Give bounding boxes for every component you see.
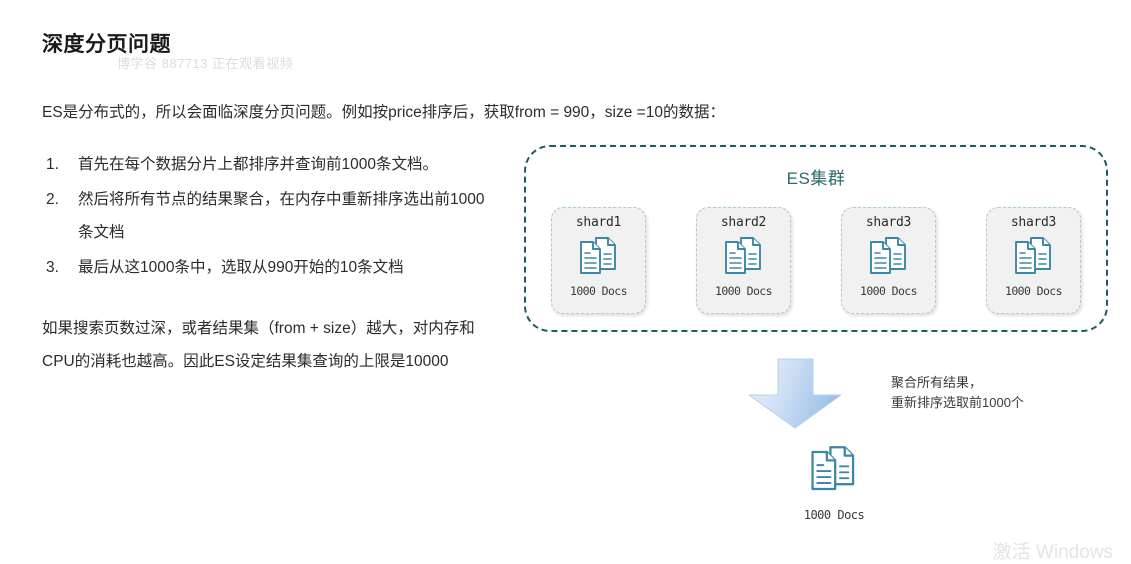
result-doc-count: 1000 Docs — [804, 508, 865, 522]
shard-doc-count: 1000 Docs — [860, 284, 917, 298]
shard-name: shard3 — [866, 215, 911, 230]
documents-icon — [803, 441, 865, 499]
list-item-text: 首先在每个数据分片上都排序并查询前1000条文档。 — [78, 156, 438, 173]
list-item: 1. 首先在每个数据分片上都排序并查询前1000条文档。 — [42, 148, 492, 181]
es-cluster-diagram: ES集群 shard1 — [518, 140, 1118, 550]
shard-doc-count: 1000 Docs — [1005, 284, 1062, 298]
arrow-annotation: 聚合所有结果， 重新排序选取前1000个 — [891, 373, 1024, 413]
shard-card: shard3 — [841, 207, 936, 314]
documents-icon — [863, 233, 915, 282]
list-item-text: 最后从这1000条中，选取从990开始的10条文档 — [78, 259, 404, 276]
list-item: 2. 然后将所有节点的结果聚合，在内存中重新排序选出前1000条文档 — [42, 183, 492, 249]
list-item-text: 然后将所有节点的结果聚合，在内存中重新排序选出前1000条文档 — [78, 191, 484, 241]
shard-card: shard2 — [696, 207, 791, 314]
shard-card: shard1 — [551, 207, 646, 314]
steps-list: 1. 首先在每个数据分片上都排序并查询前1000条文档。 2. 然后将所有节点的… — [42, 148, 492, 284]
cluster-boundary: ES集群 shard1 — [524, 145, 1108, 332]
shard-name: shard2 — [721, 215, 766, 230]
shard-name: shard3 — [1011, 215, 1056, 230]
cluster-title: ES集群 — [526, 164, 1106, 189]
result-node: 1000 Docs — [774, 438, 894, 522]
list-item-number: 3. — [46, 251, 59, 284]
documents-icon — [573, 233, 625, 282]
closing-paragraph: 如果搜索页数过深，或者结果集（from + size）越大，对内存和CPU的消耗… — [42, 312, 482, 378]
intro-paragraph: ES是分布式的，所以会面临深度分页问题。例如按price排序后，获取from =… — [42, 98, 492, 128]
content-column: ES是分布式的，所以会面临深度分页问题。例如按price排序后，获取from =… — [42, 98, 492, 378]
down-arrow-icon — [743, 358, 848, 435]
shard-doc-count: 1000 Docs — [715, 284, 772, 298]
documents-icon — [1008, 233, 1060, 282]
shard-name: shard1 — [576, 215, 621, 230]
shard-row: shard1 — [526, 207, 1106, 314]
shard-doc-count: 1000 Docs — [570, 284, 627, 298]
list-item-number: 2. — [46, 183, 59, 216]
viewer-watermark: 博学谷 887713 正在观看视频 — [117, 53, 293, 72]
list-item-number: 1. — [46, 148, 59, 181]
documents-icon — [718, 233, 770, 282]
shard-card: shard3 — [986, 207, 1081, 314]
os-activation-watermark: 激活 Windows — [993, 537, 1113, 564]
list-item: 3. 最后从这1000条中，选取从990开始的10条文档 — [42, 251, 492, 284]
